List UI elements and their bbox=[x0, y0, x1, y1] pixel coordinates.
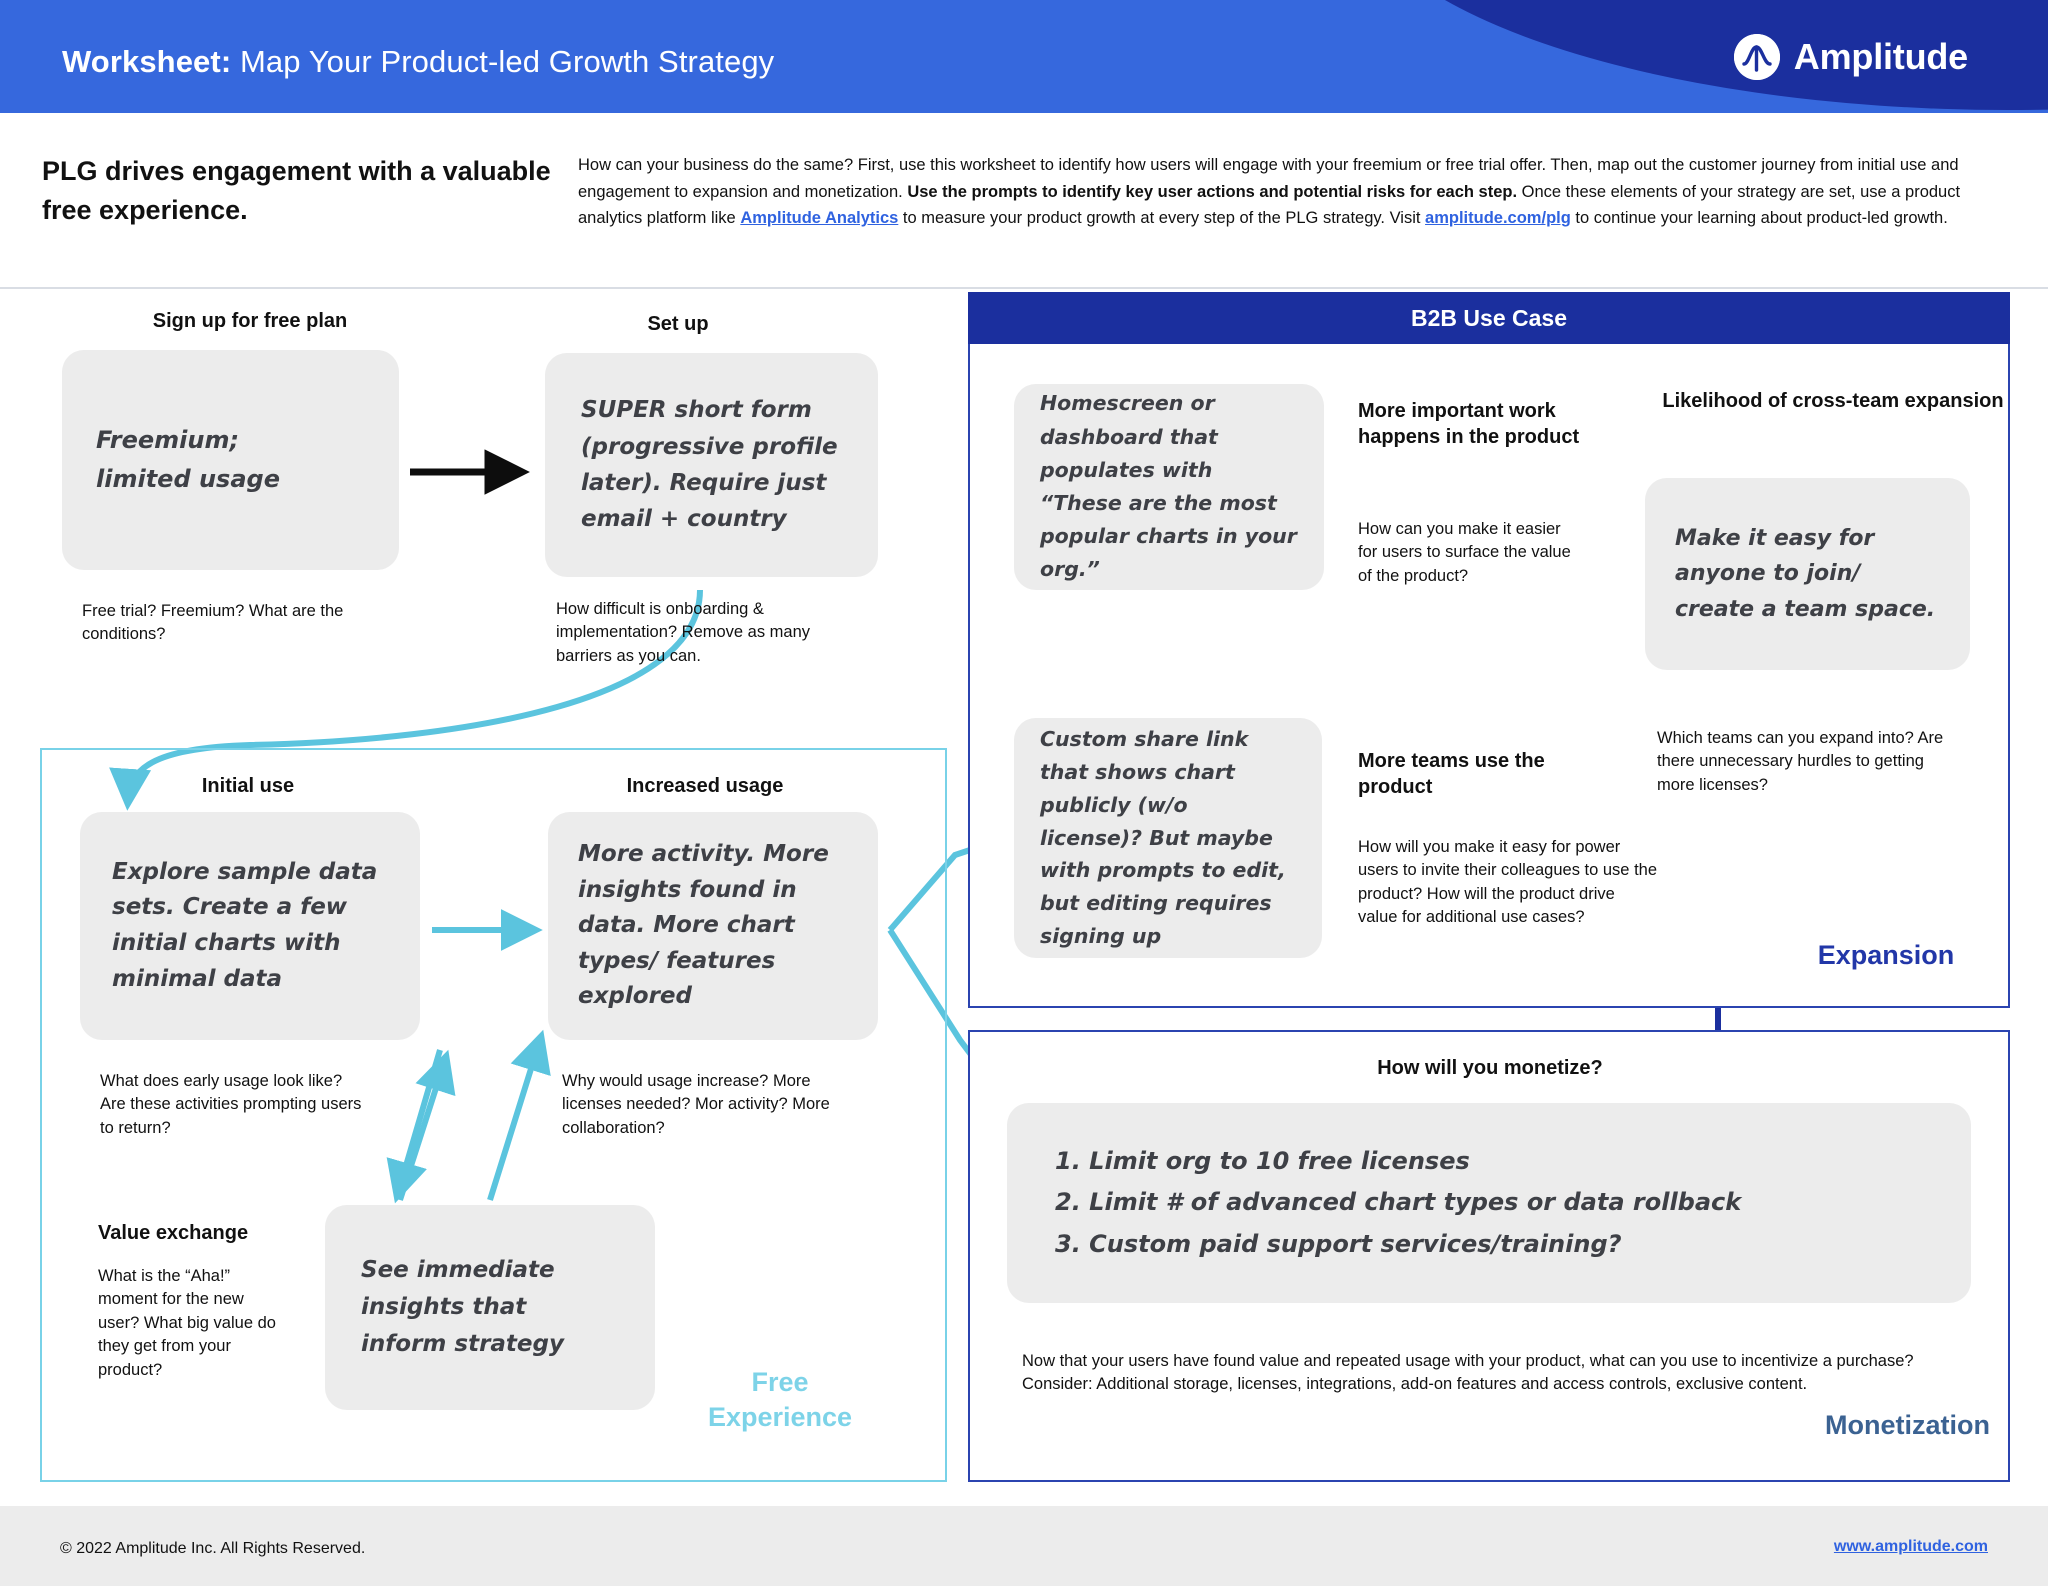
section-title-value-exchange: Value exchange bbox=[98, 1222, 298, 1245]
note-card-insights: See immediate insights that inform strat… bbox=[325, 1205, 655, 1410]
note-text-freemium: Freemium; limited usage bbox=[96, 421, 280, 499]
note-text-insights: See immediate insights that inform strat… bbox=[361, 1252, 619, 1364]
section-title-initial-use: Initial use bbox=[118, 775, 378, 798]
note-card-homescreen: Homescreen or dashboard that populates w… bbox=[1014, 384, 1324, 590]
note-card-set-up: SUPER short form (progressive profile la… bbox=[545, 353, 878, 577]
expansion-label: Expansion bbox=[1766, 940, 2006, 971]
page-title-bold: Worksheet: bbox=[62, 44, 231, 79]
note-text-set-up: SUPER short form (progressive profile la… bbox=[581, 392, 842, 537]
note-text-share-link: Custom share link that shows chart publi… bbox=[1040, 723, 1296, 953]
prompt-more-teams: How will you make it easy for power user… bbox=[1358, 836, 1658, 930]
amplitude-analytics-link[interactable]: Amplitude Analytics bbox=[740, 209, 898, 227]
note-text-monetize: 1. Limit org to 10 free licenses 2. Limi… bbox=[1055, 1141, 1741, 1265]
note-card-initial-use: Explore sample data sets. Create a few i… bbox=[80, 812, 420, 1040]
header-divider bbox=[0, 287, 2048, 289]
section-title-likelihood-expansion: Likelihood of cross-team expansion bbox=[1658, 388, 2008, 416]
note-card-share-link: Custom share link that shows chart publi… bbox=[1014, 718, 1322, 958]
amplitude-logo-icon bbox=[1734, 34, 1780, 80]
prompt-more-important-work: How can you make it easier for users to … bbox=[1358, 518, 1573, 588]
intro-headline: PLG drives engagement with a valuable fr… bbox=[42, 152, 562, 230]
prompt-monetize: Now that your users have found value and… bbox=[1022, 1350, 1962, 1397]
section-title-set-up: Set up bbox=[548, 313, 808, 336]
amplitude-wordmark: Amplitude bbox=[1794, 36, 1968, 78]
page-title: Worksheet: Map Your Product-led Growth S… bbox=[62, 44, 774, 80]
section-title-sign-up: Sign up for free plan bbox=[60, 310, 440, 333]
section-title-monetize: How will you monetize? bbox=[1160, 1057, 1820, 1080]
intro-text-4: to continue your learning about product-… bbox=[1571, 209, 1948, 227]
page-title-rest: Map Your Product-led Growth Strategy bbox=[231, 44, 774, 79]
note-card-increased-usage: More activity. More insights found in da… bbox=[548, 812, 878, 1040]
footer-website-link[interactable]: www.amplitude.com bbox=[1834, 1538, 1988, 1556]
free-experience-label: Free Experience bbox=[660, 1365, 900, 1435]
intro-text-3: to measure your product growth at every … bbox=[898, 209, 1425, 227]
note-card-monetize: 1. Limit org to 10 free licenses 2. Limi… bbox=[1007, 1103, 1971, 1303]
note-text-increased-usage: More activity. More insights found in da… bbox=[578, 837, 848, 1015]
prompt-sign-up: Free trial? Freemium? What are the condi… bbox=[82, 600, 402, 647]
intro-paragraph: How can your business do the same? First… bbox=[578, 152, 2000, 232]
intro-text-bold: Use the prompts to identify key user act… bbox=[907, 183, 1517, 201]
note-text-initial-use: Explore sample data sets. Create a few i… bbox=[112, 855, 388, 998]
note-card-freemium: Freemium; limited usage bbox=[62, 350, 399, 570]
note-text-team-space: Make it easy for anyone to join/ create … bbox=[1675, 521, 1940, 628]
note-card-team-space: Make it easy for anyone to join/ create … bbox=[1645, 478, 1970, 670]
section-title-more-teams: More teams use the product bbox=[1358, 748, 1608, 801]
prompt-value-exchange: What is the “Aha!” moment for the new us… bbox=[98, 1265, 288, 1382]
prompt-initial-use: What does early usage look like? Are the… bbox=[100, 1070, 370, 1140]
prompt-likelihood-expansion: Which teams can you expand into? Are the… bbox=[1657, 727, 1947, 797]
b2b-use-case-header: B2B Use Case bbox=[968, 292, 2010, 344]
amplitude-logo: Amplitude bbox=[1734, 34, 1968, 80]
b2b-use-case-title: B2B Use Case bbox=[1411, 305, 1567, 332]
prompt-set-up: How difficult is onboarding & implementa… bbox=[556, 598, 856, 668]
amplitude-plg-link[interactable]: amplitude.com/plg bbox=[1425, 209, 1571, 227]
monetization-label: Monetization bbox=[1740, 1410, 1990, 1441]
note-text-homescreen: Homescreen or dashboard that populates w… bbox=[1040, 387, 1298, 586]
section-title-more-important-work: More important work happens in the produ… bbox=[1358, 398, 1608, 451]
section-title-increased-usage: Increased usage bbox=[570, 775, 840, 798]
prompt-increased-usage: Why would usage increase? More licenses … bbox=[562, 1070, 862, 1140]
copyright-text: © 2022 Amplitude Inc. All Rights Reserve… bbox=[60, 1540, 365, 1558]
